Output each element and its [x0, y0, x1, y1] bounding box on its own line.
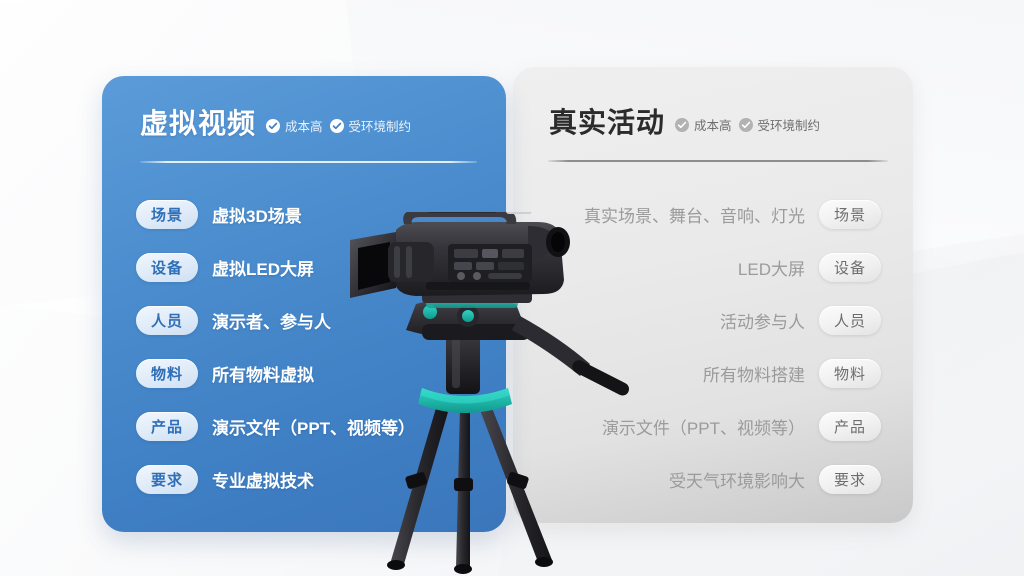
row-text: 活动参与人 [720, 308, 805, 333]
row-text: 专业虚拟技术 [212, 467, 314, 492]
row-tag: 要求 [136, 465, 198, 494]
row-tag: 场景 [136, 200, 198, 229]
tagline-item: 受环境制约 [739, 115, 821, 134]
row-text: 所有物料虚拟 [212, 361, 314, 386]
row-text: 虚拟3D场景 [212, 202, 302, 227]
panel-real-event: 真实活动 成本高 受环境制约 真实场景、舞台、音响、灯光 [513, 67, 913, 523]
row-tag: 产品 [136, 412, 198, 441]
row-text: 演示者、参与人 [212, 308, 331, 333]
panel-left-rows: 场景 虚拟3D场景 设备 虚拟LED大屏 人员 演示者、参与人 物料 所有物料虚… [102, 188, 506, 506]
list-item: 物料 所有物料虚拟 [136, 347, 488, 400]
slide-canvas: 真实活动 成本高 受环境制约 真实场景、舞台、音响、灯光 [0, 0, 1024, 576]
row-tag: 物料 [819, 359, 881, 388]
check-circle-icon [266, 119, 280, 133]
list-item: 所有物料搭建 物料 [531, 347, 881, 400]
panel-left-header: 虚拟视频 成本高 受环境制约 [140, 110, 411, 138]
panel-left-tagline: 成本高 受环境制约 [266, 116, 411, 138]
row-text: 真实场景、舞台、音响、灯光 [584, 202, 805, 227]
check-circle-icon [675, 118, 689, 132]
list-item: 场景 虚拟3D场景 [136, 188, 488, 241]
header-divider [548, 160, 888, 162]
tagline-item: 受环境制约 [330, 116, 412, 135]
row-tag: 人员 [819, 306, 881, 335]
check-circle-icon [739, 118, 753, 132]
list-item: 活动参与人 人员 [531, 294, 881, 347]
row-tag: 设备 [819, 253, 881, 282]
list-item: 受天气环境影响大 要求 [531, 453, 881, 506]
list-item: 要求 专业虚拟技术 [136, 453, 488, 506]
row-tag: 物料 [136, 359, 198, 388]
tagline-label: 成本高 [285, 116, 323, 135]
panel-right-title: 真实活动 [549, 109, 665, 137]
list-item: 真实场景、舞台、音响、灯光 场景 [531, 188, 881, 241]
panel-right-rows: 真实场景、舞台、音响、灯光 场景 LED大屏 设备 活动参与人 人员 所有物料搭… [513, 188, 913, 506]
list-item: LED大屏 设备 [531, 241, 881, 294]
header-divider [140, 161, 477, 163]
tagline-label: 受环境制约 [758, 115, 821, 134]
row-text: 受天气环境影响大 [669, 467, 805, 492]
row-text: 演示文件（PPT、视频等） [212, 414, 415, 439]
list-item: 演示文件（PPT、视频等） 产品 [531, 400, 881, 453]
panel-right-tagline: 成本高 受环境制约 [675, 115, 820, 137]
tagline-label: 成本高 [694, 115, 732, 134]
list-item: 人员 演示者、参与人 [136, 294, 488, 347]
row-tag: 场景 [819, 200, 881, 229]
tagline-item: 成本高 [266, 116, 323, 135]
panel-left-title: 虚拟视频 [140, 110, 256, 138]
panel-virtual-video: 虚拟视频 成本高 受环境制约 场景 虚拟 [102, 76, 506, 532]
list-item: 产品 演示文件（PPT、视频等） [136, 400, 488, 453]
row-text: 所有物料搭建 [703, 361, 805, 386]
check-circle-icon [330, 119, 344, 133]
panel-right-header: 真实活动 成本高 受环境制约 [549, 109, 820, 137]
row-tag: 人员 [136, 306, 198, 335]
list-item: 设备 虚拟LED大屏 [136, 241, 488, 294]
row-text: 虚拟LED大屏 [212, 255, 314, 280]
row-tag: 要求 [819, 465, 881, 494]
tagline-label: 受环境制约 [349, 116, 412, 135]
row-tag: 产品 [819, 412, 881, 441]
row-tag: 设备 [136, 253, 198, 282]
tagline-item: 成本高 [675, 115, 732, 134]
row-text: LED大屏 [738, 255, 805, 280]
row-text: 演示文件（PPT、视频等） [602, 414, 805, 439]
